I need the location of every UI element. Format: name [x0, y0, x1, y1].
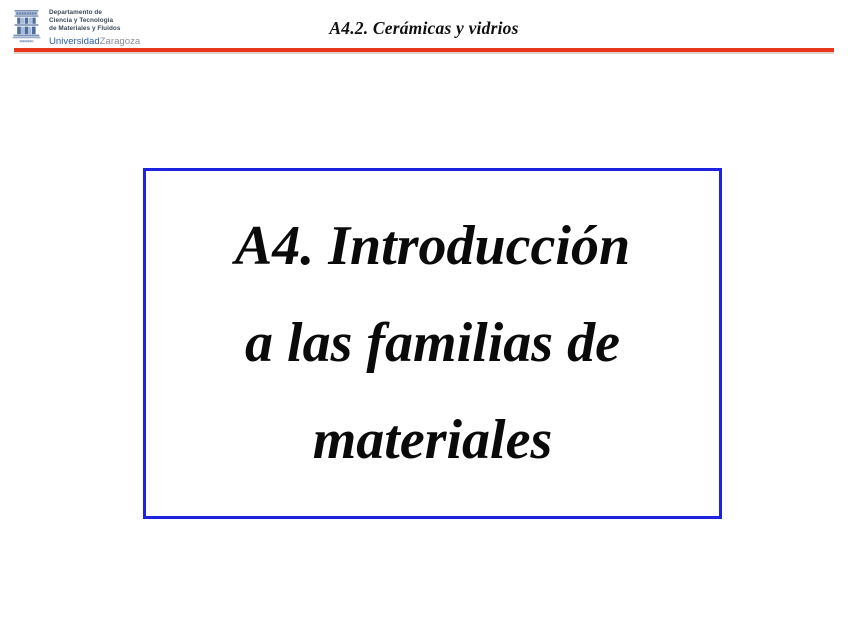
slide-header: Departamento de Ciencia y Tecnología de …	[0, 0, 848, 55]
slide-title-box: A4. Introducción a las familias de mater…	[143, 168, 722, 519]
header-divider-rule-shadow	[14, 52, 834, 54]
header-section-title: A4.2. Cerámicas y vidrios	[0, 18, 848, 39]
slide-title-line-3: materiales	[146, 392, 719, 489]
department-line-1: Departamento de	[49, 9, 140, 17]
slide-root: Departamento de Ciencia y Tecnología de …	[0, 0, 848, 636]
slide-title-line-1: A4. Introducción	[146, 198, 719, 295]
slide-title-line-2: a las familias de	[146, 295, 719, 392]
slide-title-text: A4. Introducción a las familias de mater…	[146, 198, 719, 489]
